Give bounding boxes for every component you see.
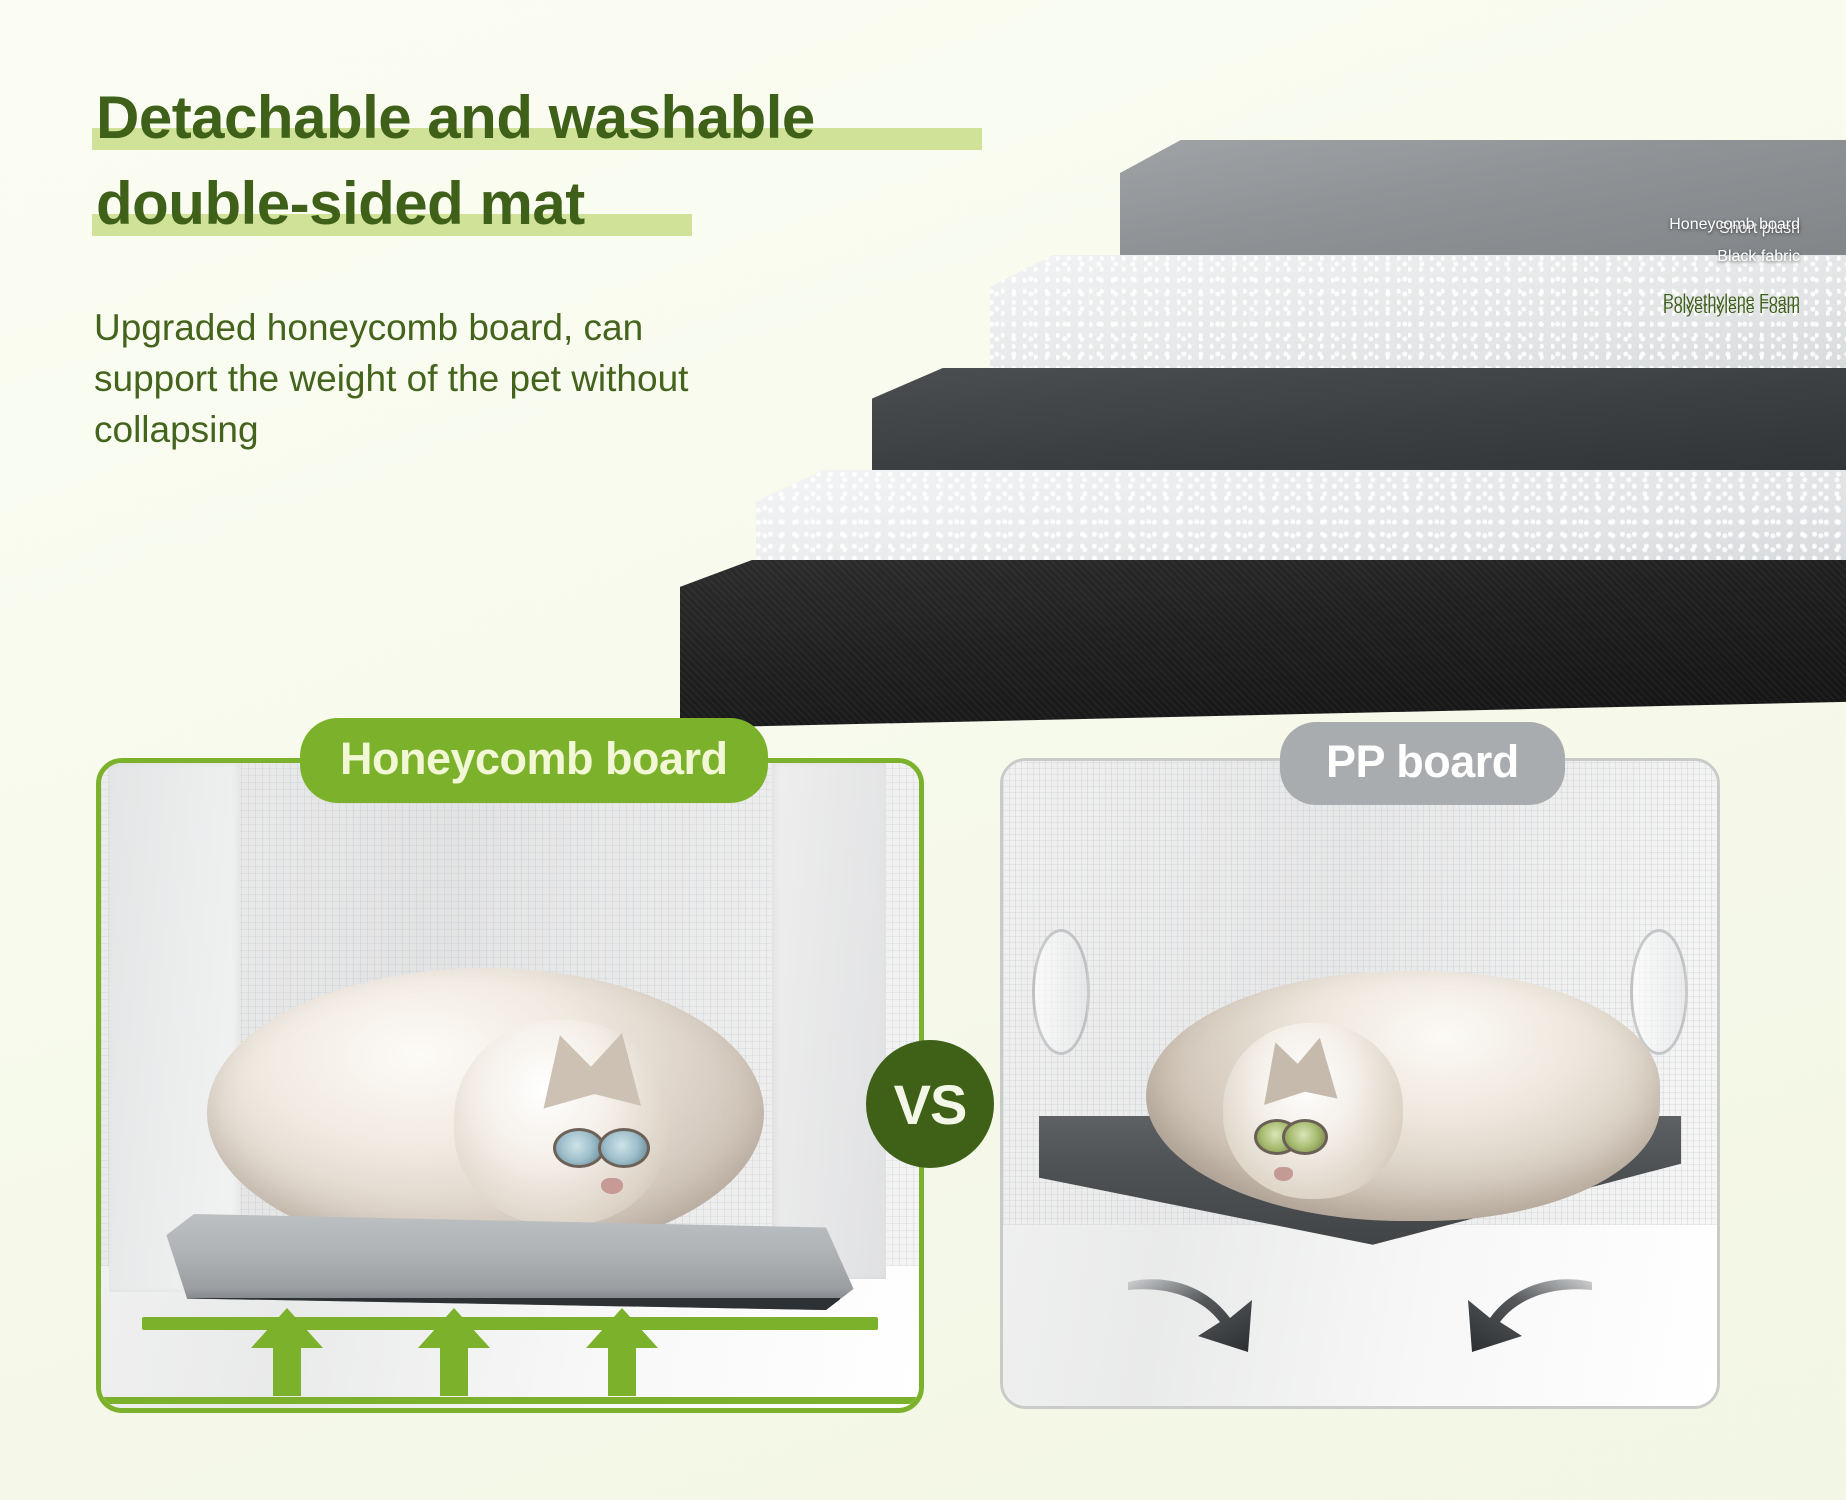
carrier-side-panel-left — [109, 763, 240, 1292]
pp-panel-photo — [1003, 761, 1717, 1406]
headline-line-1: Detachable and washable — [92, 88, 932, 148]
carrier-side-panel-right — [772, 763, 887, 1279]
badge-honeycomb-board: Honeycomb board — [300, 718, 768, 803]
mat-flat-supported — [166, 1214, 853, 1310]
cat-left-nose — [601, 1178, 623, 1194]
badge-pp-board: PP board — [1280, 722, 1565, 805]
comparison-section: Honeycomb board PP board VS — [0, 700, 1846, 1460]
collapse-arrow-icon-right — [1446, 1266, 1596, 1354]
headline-line-2-text: double-sided mat — [92, 174, 589, 234]
up-arrow-icon-1 — [273, 1346, 301, 1396]
layer-label-polyethylene-foam-bottom: Polyethylene Foam — [1663, 300, 1800, 318]
floor-bar-green — [101, 1397, 919, 1404]
cat-left-head — [454, 1020, 669, 1225]
honeycomb-panel-photo — [101, 763, 919, 1408]
panel-pp-board — [1000, 758, 1720, 1409]
cat-right-ear-b — [1279, 1031, 1349, 1098]
layer-stack-diagram: Short plush Polyethylene Foam Honeycomb … — [660, 140, 1846, 620]
layer-label-honeycomb-board: Honeycomb board — [1669, 216, 1800, 234]
cat-right-eye-b — [1282, 1119, 1328, 1155]
cat-left-eye-b — [598, 1128, 650, 1168]
layer-label-black-fabric: Black fabric — [1717, 248, 1800, 266]
suction-cup-icon-right — [1630, 929, 1688, 1055]
collapse-arrow-icon-left — [1124, 1266, 1274, 1354]
cat-right-head — [1223, 1023, 1403, 1199]
suction-cup-icon-left — [1032, 929, 1090, 1055]
cat-left — [207, 968, 763, 1258]
vs-badge: VS — [866, 1040, 994, 1168]
cat-left-eye-a — [553, 1128, 605, 1168]
cat-right-nose — [1274, 1167, 1293, 1181]
panel-honeycomb-board — [96, 758, 924, 1413]
up-arrow-icon-2 — [440, 1346, 468, 1396]
cat-right — [1146, 971, 1660, 1221]
headline-line-1-text: Detachable and washable — [92, 88, 819, 148]
subcopy-text: Upgraded honeycomb board, can support th… — [94, 302, 754, 455]
up-arrow-icon-3 — [608, 1346, 636, 1396]
